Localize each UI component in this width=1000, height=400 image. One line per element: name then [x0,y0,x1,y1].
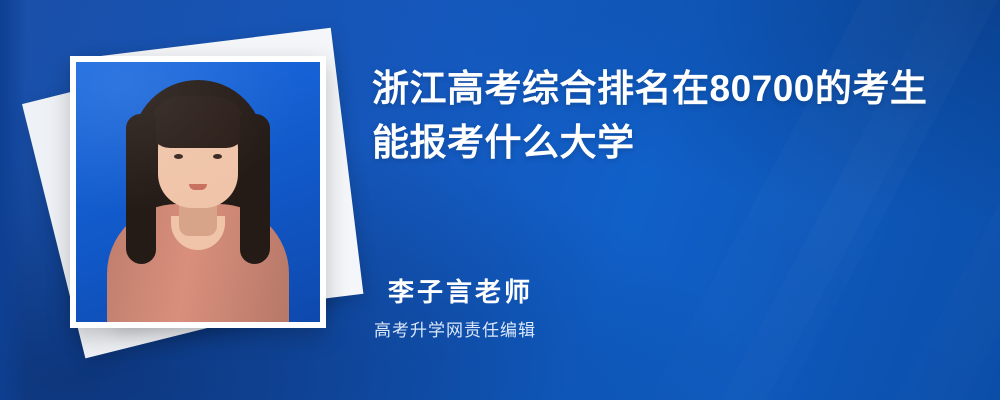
banner-text-block: 浙江高考综合排名在80700的考生能报考什么大学 [372,62,960,170]
photo-card-front [70,56,326,328]
teacher-portrait-image [76,62,320,322]
portrait-light-overlay [76,62,320,322]
article-header-banner: 浙江高考综合排名在80700的考生能报考什么大学 李子言老师 高考升学网责任编辑 [0,0,1000,400]
page-title: 浙江高考综合排名在80700的考生能报考什么大学 [372,62,932,170]
author-role: 高考升学网责任编辑 [374,316,536,341]
left-edge-shade [0,0,26,400]
author-name: 李子言老师 [388,272,533,309]
photo-card-stack [44,36,354,366]
